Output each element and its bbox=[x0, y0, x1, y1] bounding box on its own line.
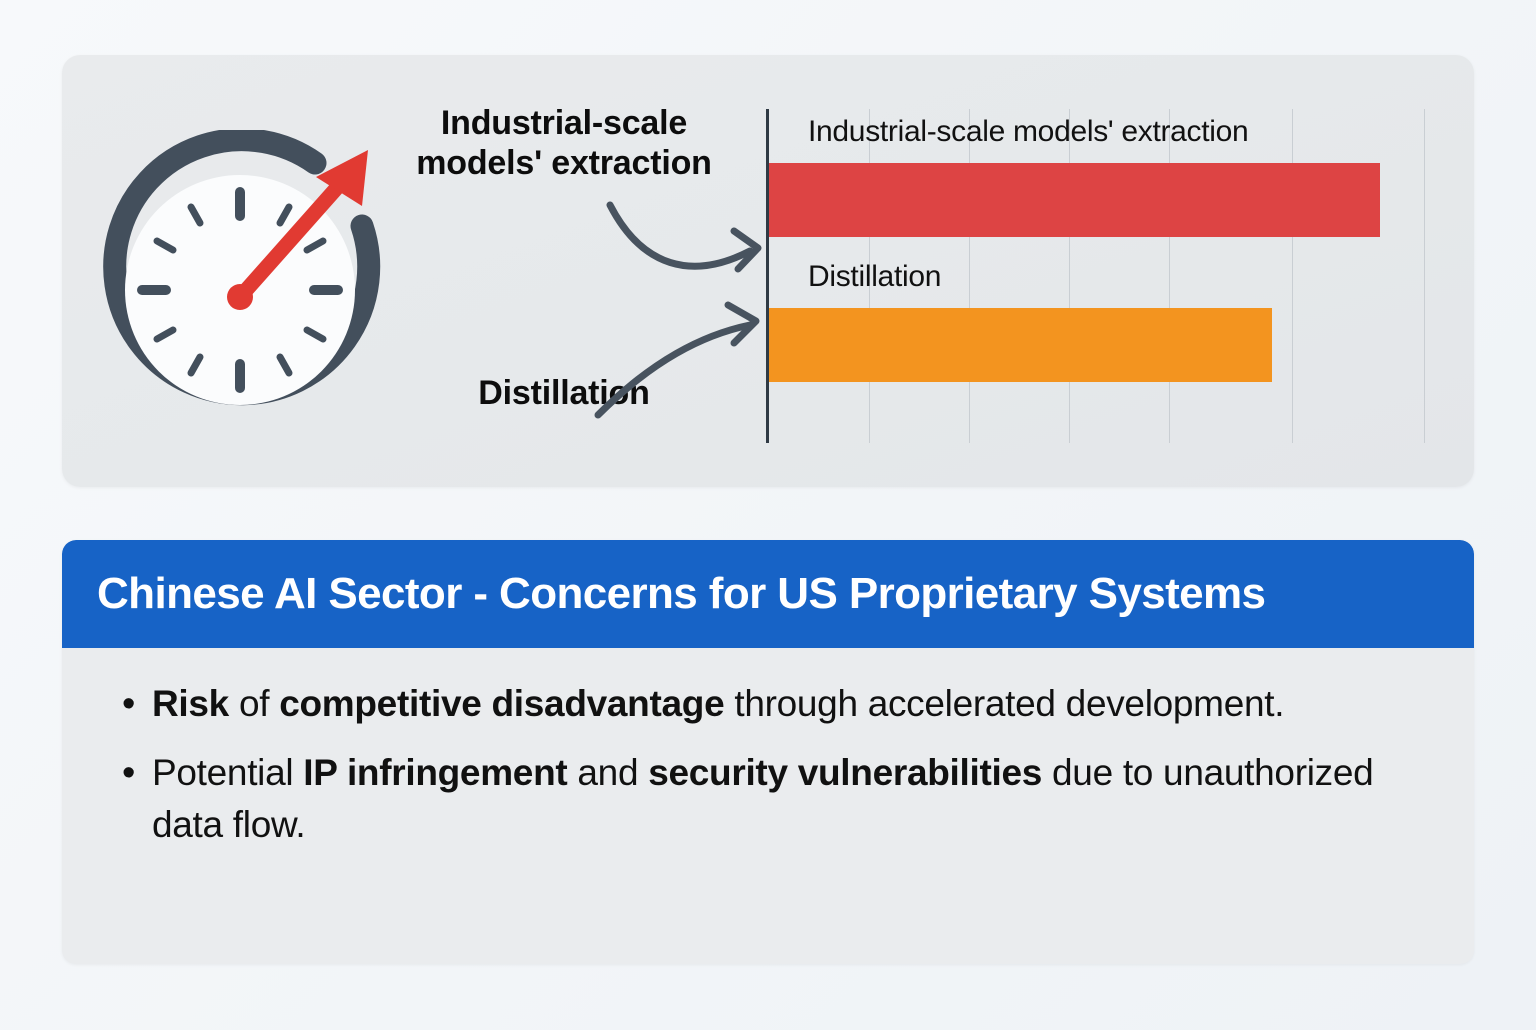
bullet-text-1: Risk of competitive disadvantage through… bbox=[152, 678, 1284, 731]
callout-extraction-line2: models' extraction bbox=[384, 143, 744, 183]
bullet-text-2: Potential IP infringement and security v… bbox=[152, 747, 1434, 852]
bar-label-distillation: Distillation bbox=[808, 260, 941, 294]
bar-distillation[interactable] bbox=[769, 308, 1272, 382]
bullet-marker-icon: • bbox=[122, 678, 152, 730]
arrow-to-orange-bar-head bbox=[728, 305, 756, 343]
speed-clock-svg bbox=[100, 130, 400, 430]
gridline-3 bbox=[1069, 109, 1070, 443]
callout-extraction-line1: Industrial-scale bbox=[384, 103, 744, 143]
bar-extraction[interactable] bbox=[769, 163, 1380, 237]
gridline-4 bbox=[1169, 109, 1170, 443]
list-item: • Potential IP infringement and security… bbox=[122, 747, 1434, 852]
arrow-to-red-bar-curve bbox=[610, 205, 750, 266]
concerns-panel: Chinese AI Sector - Concerns for US Prop… bbox=[62, 540, 1474, 964]
arrow-to-red-bar-head bbox=[734, 231, 758, 269]
gridline-6 bbox=[1424, 109, 1425, 443]
panel-header-bar: Chinese AI Sector - Concerns for US Prop… bbox=[62, 540, 1474, 648]
bar-label-extraction: Industrial-scale models' extraction bbox=[808, 115, 1248, 149]
chart-y-axis bbox=[766, 109, 769, 443]
bullet-list: • Risk of competitive disadvantage throu… bbox=[62, 648, 1474, 868]
slide-canvas: Industrial-scale models' extraction Dist… bbox=[0, 0, 1536, 1030]
callout-industrial-scale-extraction: Industrial-scale models' extraction bbox=[384, 103, 744, 183]
gridline-2 bbox=[969, 109, 970, 443]
chart-plot-area: Industrial-scale models' extraction Dist… bbox=[762, 103, 1452, 449]
bar-chart: Industrial-scale models' extraction Dist… bbox=[762, 103, 1452, 449]
gridline-5 bbox=[1292, 109, 1293, 443]
illustration-panel: Industrial-scale models' extraction Dist… bbox=[62, 55, 1474, 487]
list-item: • Risk of competitive disadvantage throu… bbox=[122, 678, 1434, 731]
speed-clock-icon bbox=[100, 130, 400, 430]
bullet-marker-icon: • bbox=[122, 747, 152, 799]
panel-title: Chinese AI Sector - Concerns for US Prop… bbox=[62, 569, 1265, 619]
callout-distillation: Distillation bbox=[384, 373, 744, 413]
